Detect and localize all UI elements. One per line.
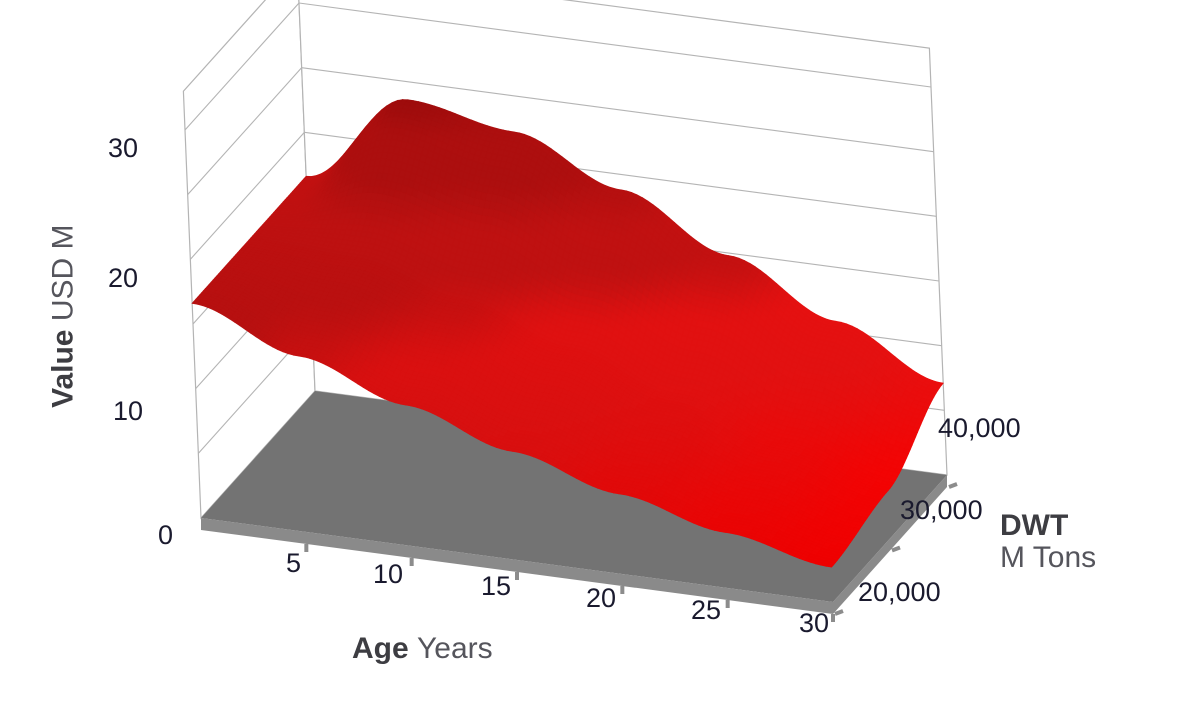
z-tick-30: 30 xyxy=(108,135,138,162)
z-axis-title-sub: USD M xyxy=(47,224,80,321)
z-tick-10: 10 xyxy=(113,398,143,425)
x-tick-10: 10 xyxy=(373,561,403,588)
z-axis-title-bold: Value xyxy=(47,330,80,408)
x-tick-20: 20 xyxy=(586,585,616,612)
z-axis-title: Value USD M xyxy=(48,224,80,407)
y-tick-40000: 40,000 xyxy=(938,415,1021,442)
y-axis-title-sub: M Tons xyxy=(1000,541,1096,574)
y-tick-30000: 30,000 xyxy=(900,497,983,524)
y-tick-20000: 20,000 xyxy=(858,579,941,606)
x-tick-5: 5 xyxy=(286,550,301,577)
x-tick-15: 15 xyxy=(481,573,511,600)
x-tick-25: 25 xyxy=(691,597,721,624)
x-axis-title-bold: Age xyxy=(352,632,409,665)
x-axis-title: Age Years xyxy=(352,633,493,665)
x-axis-title-sub: Years xyxy=(417,632,493,665)
y-axis-title: DWT M Tons xyxy=(1000,510,1096,575)
z-tick-0: 0 xyxy=(158,522,173,549)
y-axis-title-bold: DWT xyxy=(1000,509,1068,542)
x-tick-30: 30 xyxy=(799,610,829,637)
z-tick-20: 20 xyxy=(108,265,138,292)
chart-canvas: 30 20 10 0 Value USD M 5 10 15 20 25 30 … xyxy=(0,0,1186,711)
